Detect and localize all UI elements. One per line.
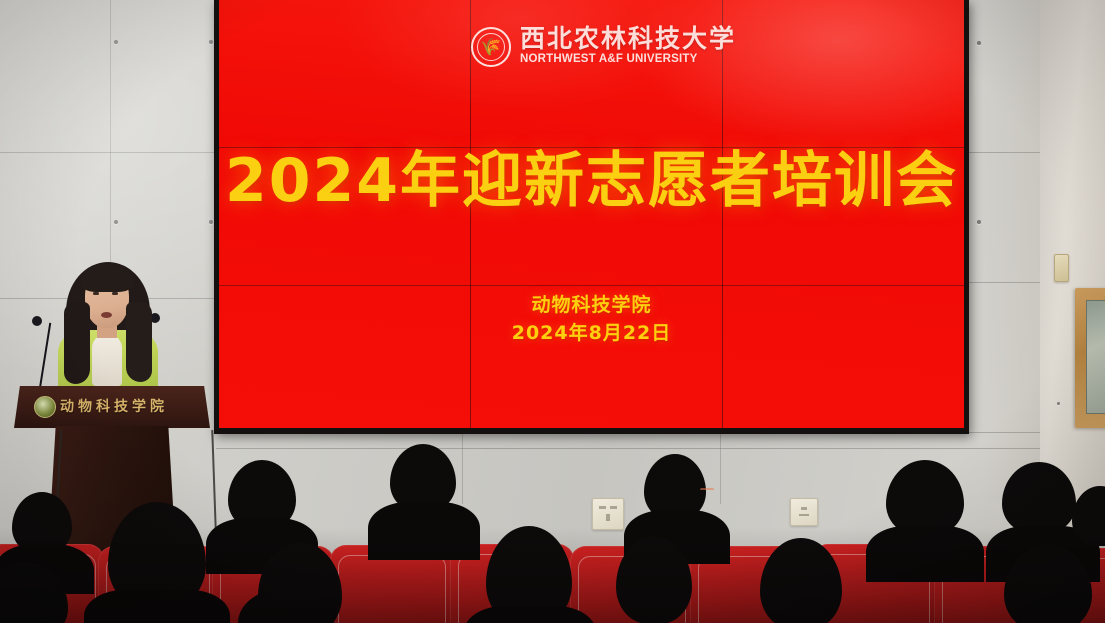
window-glass — [1086, 300, 1105, 414]
audience-area — [0, 440, 1105, 623]
university-logo: 🌾 西北农林科技大学 NORTHWEST A&F UNIVERSITY — [471, 26, 736, 67]
wheat-glyph: 🌾 — [480, 38, 501, 55]
presenter-mouth — [101, 312, 112, 318]
presenter-fringe — [80, 264, 134, 292]
presenter-hair-strand-right — [126, 302, 152, 382]
panel-seam-horizontal — [219, 285, 964, 286]
wall-screw — [1057, 402, 1060, 405]
presenter-eye-right — [112, 292, 118, 295]
presenter-hair-strand-left — [64, 302, 90, 384]
wall-screw — [209, 220, 213, 224]
presenter-eye-left — [93, 292, 99, 295]
university-name-chinese: 西北农林科技大学 — [520, 26, 736, 52]
wall-screw — [209, 40, 213, 44]
audience-shoulders — [866, 526, 984, 582]
wall-screw — [114, 40, 118, 44]
wall-screw — [114, 220, 118, 224]
audience-shoulders — [84, 590, 230, 623]
wall-screw — [977, 220, 981, 224]
presenter-shirt — [92, 334, 122, 386]
university-logo-text: 西北农林科技大学 NORTHWEST A&F UNIVERSITY — [520, 26, 736, 67]
eyeglasses — [700, 488, 714, 494]
microphone-head-left — [32, 316, 42, 326]
auditorium-photo: 🌾 西北农林科技大学 NORTHWEST A&F UNIVERSITY 2024… — [0, 0, 1105, 623]
audience-head — [886, 460, 964, 536]
presenter — [52, 262, 164, 394]
wall-panel-seam — [0, 152, 216, 153]
wall-screw — [977, 41, 981, 45]
wall-power-outlet[interactable] — [592, 498, 624, 530]
audience-head — [1002, 462, 1076, 534]
audience-shoulders — [368, 502, 480, 560]
slide-subtitle-date: 2024年8月22日 — [219, 320, 964, 348]
led-video-wall-display[interactable]: 🌾 西北农林科技大学 NORTHWEST A&F UNIVERSITY 2024… — [219, 0, 964, 428]
podium-nameplate: 动物科技学院 — [60, 396, 200, 416]
slide-subtitle-college: 动物科技学院 — [219, 292, 964, 320]
university-name-english: NORTHWEST A&F UNIVERSITY — [520, 53, 736, 67]
wall-power-outlet[interactable] — [790, 498, 818, 526]
slide-subtitle: 动物科技学院 2024年8月22日 — [219, 292, 964, 347]
slide-title: 2024年迎新志愿者培训会 — [219, 148, 964, 214]
wall-control-plate[interactable] — [1054, 254, 1069, 282]
podium-emblem-icon — [34, 396, 56, 418]
audience-head — [1072, 486, 1105, 546]
university-emblem-icon: 🌾 — [471, 27, 511, 67]
